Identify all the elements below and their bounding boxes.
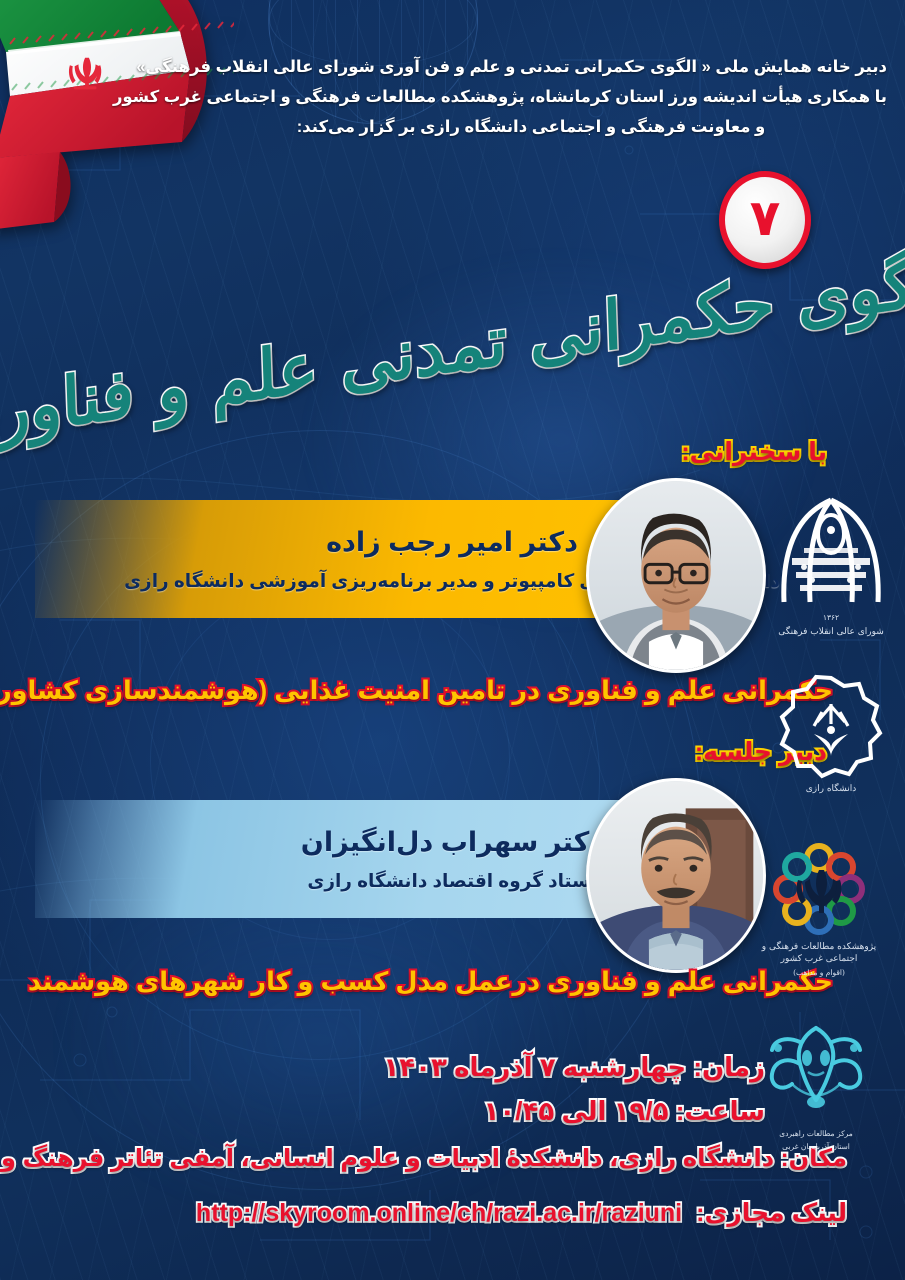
- poster-title-text: الگوی حکمرانی تمدنی علم و فناوری: [0, 236, 905, 458]
- event-date: زمان: چهارشنبه ۷ آذرماه ۱۴۰۳: [383, 1052, 765, 1083]
- event-poster: دبیر خانه همایش ملی « الگوی حکمرانی تمدن…: [0, 0, 905, 1280]
- west-studies-emblem-icon: [764, 840, 874, 938]
- virtual-link-url[interactable]: http://skyroom.online/ch/razi.ac.ir/razi…: [196, 1199, 682, 1228]
- razi-university-emblem-icon: [776, 672, 886, 780]
- speaker-1-name: دکتر امیر رجب زاده: [326, 527, 578, 558]
- logo-1-year: ۱۳۶۲: [823, 613, 839, 623]
- speaker-2-role: استاد گروه اقتصاد دانشگاه رازی: [307, 870, 596, 892]
- logo-1-caption: شورای عالی انقلاب فرهنگی: [778, 626, 884, 638]
- speaker-1-portrait: [589, 481, 763, 670]
- supreme-council-emblem-icon: [770, 492, 892, 610]
- speaker-2-name: دکتر سهراب دل‌انگیزان: [301, 827, 603, 858]
- speaker-1-topic: حکمرانی علم و فناوری در تامین امنیت غذای…: [0, 676, 833, 706]
- header-line-3: و معاونت فرهنگی و اجتماعی دانشگاه رازی ب…: [175, 112, 887, 142]
- logo-razi-university: دانشگاه رازی: [757, 672, 905, 795]
- logo-4-subcaption: استان آذربایجان غربی: [782, 1142, 850, 1152]
- speaker-2-portrait: [589, 781, 763, 970]
- logo-west-studies-institute: پژوهشکده مطالعات فرهنگی و اجتماعی غرب کش…: [745, 840, 893, 978]
- logo-4-caption: مرکز مطالعات راهبردی: [779, 1129, 853, 1139]
- logo-2-caption: دانشگاه رازی: [806, 783, 857, 795]
- strategic-studies-emblem-icon: [756, 1022, 876, 1126]
- speaker-2-topic: حکمرانی علم و فناوری درعمل مدل کسب و کار…: [28, 967, 833, 997]
- logo-3-caption: پژوهشکده مطالعات فرهنگی و اجتماعی غرب کش…: [745, 941, 893, 965]
- header-line-2: با همکاری هیأت اندیشه ورز استان کرمانشاه…: [175, 82, 887, 112]
- event-location: مکان: دانشگاه رازی، دانشکدهٔ ادبیات و عل…: [0, 1144, 847, 1173]
- speaker-section-label: با سخنرانی:: [681, 437, 827, 467]
- logo-supreme-council: ۱۳۶۲ شورای عالی انقلاب فرهنگی: [757, 492, 905, 638]
- virtual-link-label: لینک مجازی:: [696, 1198, 847, 1228]
- header-paragraph: دبیر خانه همایش ملی « الگوی حکمرانی تمدن…: [175, 52, 887, 142]
- speaker-2-avatar: [586, 778, 766, 973]
- session-number: ۷: [750, 193, 781, 243]
- logo-strategic-studies: مرکز مطالعات راهبردی استان آذربایجان غرب…: [742, 1022, 890, 1152]
- speaker-1-avatar: [586, 478, 766, 673]
- header-line-1: دبیر خانه همایش ملی « الگوی حکمرانی تمدن…: [175, 52, 887, 82]
- event-time: ساعت: ۱۹/۵ الی ۱۰/۴۵: [484, 1096, 765, 1127]
- virtual-link-row: لینک مجازی: http://skyroom.online/ch/raz…: [196, 1198, 847, 1228]
- logo-3-subcaption: (اقوام و مذاهب): [793, 968, 845, 978]
- session-number-badge: ۷: [719, 171, 811, 269]
- poster-title: الگوی حکمرانی تمدنی علم و فناوری: [0, 258, 905, 436]
